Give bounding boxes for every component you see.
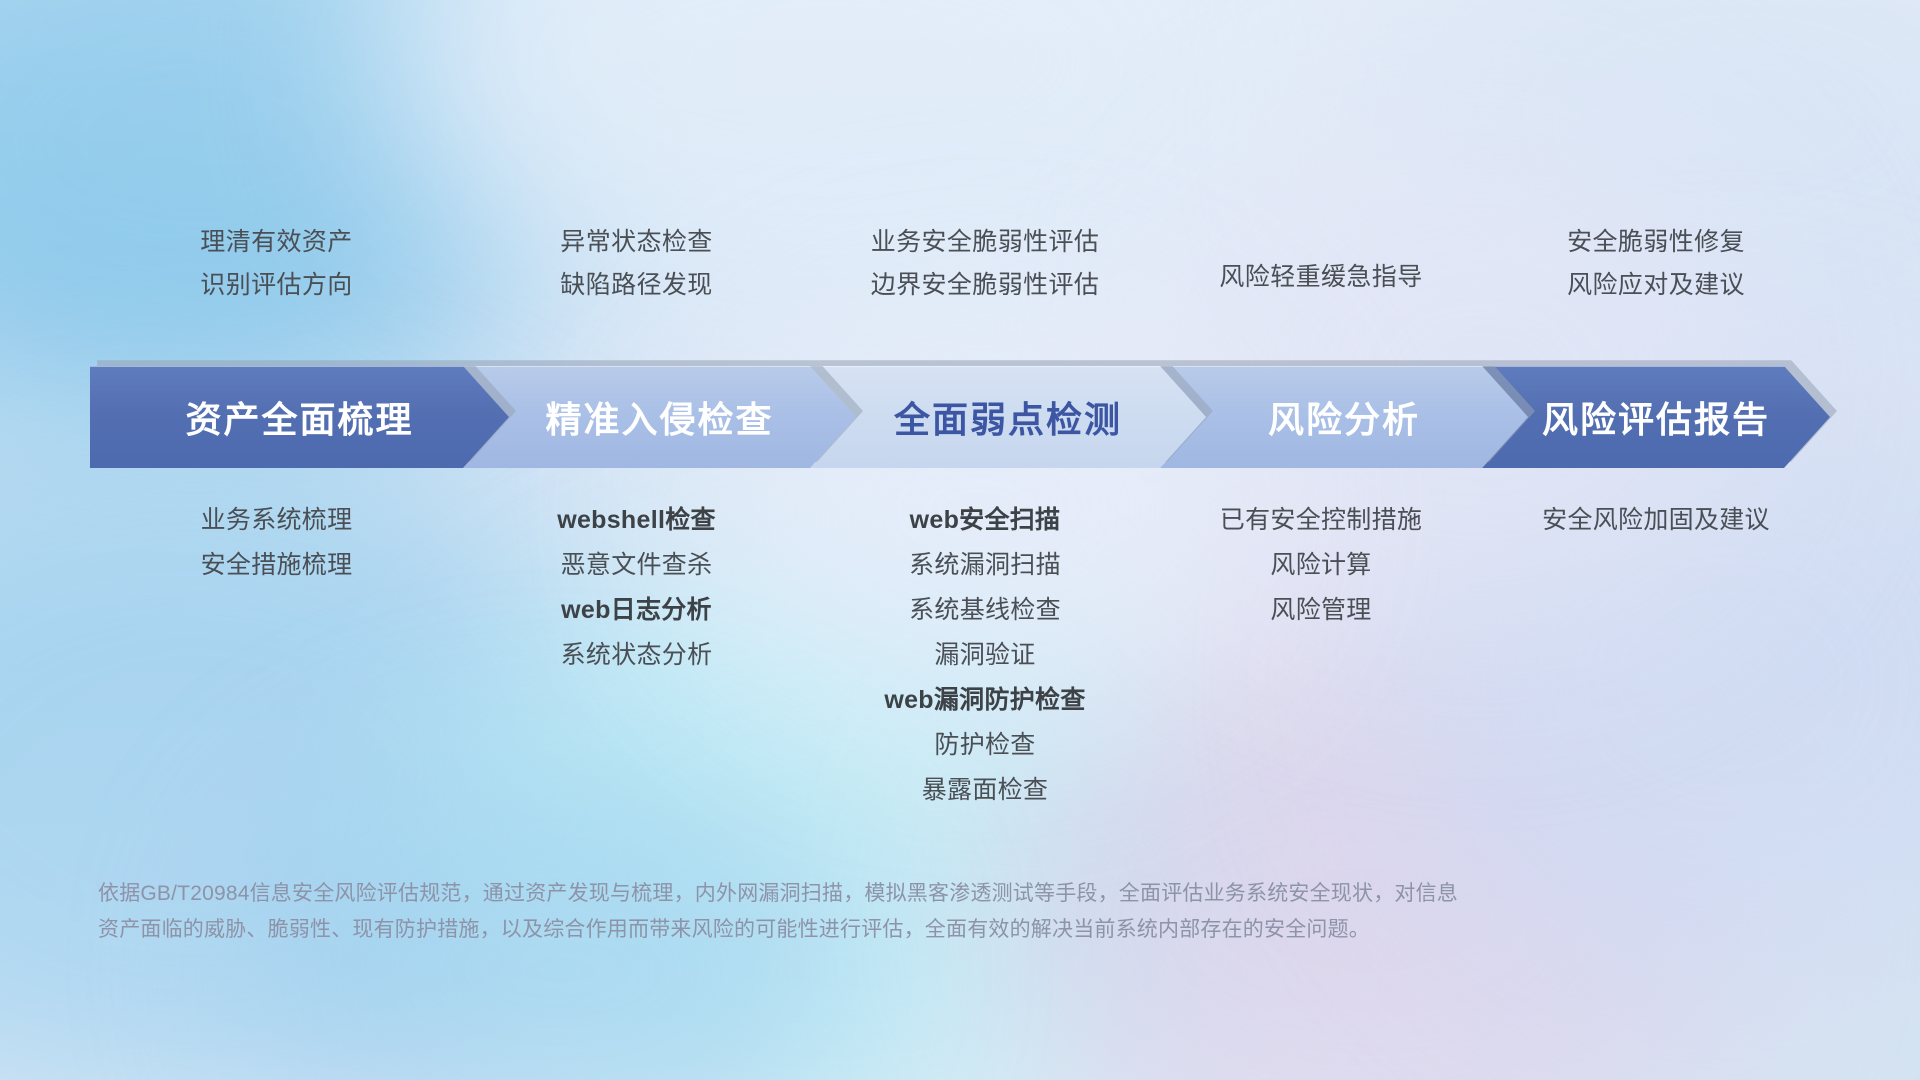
stage-detail-item: 安全措施梳理 bbox=[201, 550, 353, 580]
stage-detail-item: 系统状态分析 bbox=[561, 640, 713, 670]
stage-detail-item: 漏洞验证 bbox=[934, 640, 1035, 670]
stage-detail-list-risk-analysis: 已有安全控制措施风险计算风险管理 bbox=[1160, 505, 1482, 805]
stage-top-labels-risk-analysis: 风险轻重缓急指导 bbox=[1160, 228, 1482, 300]
process-arrow-label: 资产全面梳理 bbox=[185, 391, 413, 443]
stage-detail-list-risk-report: 安全风险加固及建议 bbox=[1482, 505, 1830, 805]
stage-top-label: 异常状态检查 bbox=[560, 228, 712, 257]
stage-detail-item: 业务系统梳理 bbox=[201, 505, 353, 535]
stage-detail-list-weakness-detection: web安全扫描系统漏洞扫描系统基线检查漏洞验证web漏洞防护检查防护检查暴露面检… bbox=[810, 505, 1160, 805]
footer-line-2: 资产面临的威胁、脆弱性、现有防护措施，以及综合作用而带来风险的可能性进行评估，全… bbox=[98, 912, 1598, 948]
stage-detail-item: web漏洞防护检查 bbox=[884, 685, 1085, 715]
stage-top-label: 缺陷路径发现 bbox=[560, 271, 712, 300]
stage-top-labels-risk-report: 安全脆弱性修复风险应对及建议 bbox=[1482, 228, 1830, 300]
stage-detail-item: 防护检查 bbox=[934, 730, 1035, 760]
process-arrow-asset-inventory[interactable]: 资产全面梳理 bbox=[90, 366, 509, 468]
process-arrow-risk-analysis[interactable]: 风险分析 bbox=[1160, 366, 1528, 468]
process-arrow-weakness-detection[interactable]: 全面弱点检测 bbox=[810, 366, 1206, 468]
process-arrow-intrusion-check[interactable]: 精准入侵检查 bbox=[463, 366, 856, 468]
stage-detail-item: 系统漏洞扫描 bbox=[909, 550, 1061, 580]
stage-top-labels-weakness-detection: 业务安全脆弱性评估边界安全脆弱性评估 bbox=[810, 228, 1160, 300]
stage-detail-item: 安全风险加固及建议 bbox=[1542, 505, 1770, 535]
process-arrow-risk-report[interactable]: 风险评估报告 bbox=[1482, 366, 1830, 468]
process-arrow-band: 资产全面梳理精准入侵检查全面弱点检测风险分析风险评估报告 bbox=[90, 366, 1830, 468]
stage-bottom-lists-row: 业务系统梳理安全措施梳理webshell检查恶意文件查杀web日志分析系统状态分… bbox=[90, 505, 1830, 805]
process-arrow-label: 风险分析 bbox=[1268, 391, 1420, 443]
stage-top-labels-intrusion-check: 异常状态检查缺陷路径发现 bbox=[463, 228, 810, 300]
process-arrow-label: 全面弱点检测 bbox=[894, 391, 1122, 443]
stage-detail-item: 系统基线检查 bbox=[909, 595, 1061, 625]
slide-canvas: 理清有效资产识别评估方向异常状态检查缺陷路径发现业务安全脆弱性评估边界安全脆弱性… bbox=[0, 0, 1920, 1080]
footer-line-1: 依据GB/T20984信息安全风险评估规范，通过资产发现与梳理，内外网漏洞扫描，… bbox=[98, 876, 1598, 912]
stage-top-label: 识别评估方向 bbox=[200, 271, 352, 300]
stage-detail-list-intrusion-check: webshell检查恶意文件查杀web日志分析系统状态分析 bbox=[463, 505, 810, 805]
stage-detail-item: 风险计算 bbox=[1270, 550, 1371, 580]
stage-top-label: 业务安全脆弱性评估 bbox=[871, 228, 1100, 257]
stage-detail-item: 暴露面检查 bbox=[922, 775, 1049, 805]
stage-detail-item: 恶意文件查杀 bbox=[561, 550, 713, 580]
footer-description: 依据GB/T20984信息安全风险评估规范，通过资产发现与梳理，内外网漏洞扫描，… bbox=[98, 876, 1598, 948]
stage-top-label: 安全脆弱性修复 bbox=[1567, 228, 1745, 257]
stage-detail-item: 风险管理 bbox=[1270, 595, 1371, 625]
stage-detail-item: 已有安全控制措施 bbox=[1220, 505, 1422, 535]
stage-top-label: 边界安全脆弱性评估 bbox=[871, 271, 1100, 300]
process-arrow-label: 精准入侵检查 bbox=[545, 391, 773, 443]
stage-detail-item: web日志分析 bbox=[561, 595, 712, 625]
stage-top-labels-asset-inventory: 理清有效资产识别评估方向 bbox=[90, 228, 463, 300]
stage-top-label: 风险应对及建议 bbox=[1567, 271, 1745, 300]
stage-top-labels-row: 理清有效资产识别评估方向异常状态检查缺陷路径发现业务安全脆弱性评估边界安全脆弱性… bbox=[90, 228, 1830, 300]
stage-top-label: 风险轻重缓急指导 bbox=[1219, 263, 1422, 292]
stage-top-label: 理清有效资产 bbox=[200, 228, 352, 257]
stage-detail-item: webshell检查 bbox=[557, 505, 716, 535]
stage-detail-list-asset-inventory: 业务系统梳理安全措施梳理 bbox=[90, 505, 463, 805]
process-arrow-label: 风险评估报告 bbox=[1542, 391, 1770, 443]
stage-detail-item: web安全扫描 bbox=[910, 505, 1061, 535]
